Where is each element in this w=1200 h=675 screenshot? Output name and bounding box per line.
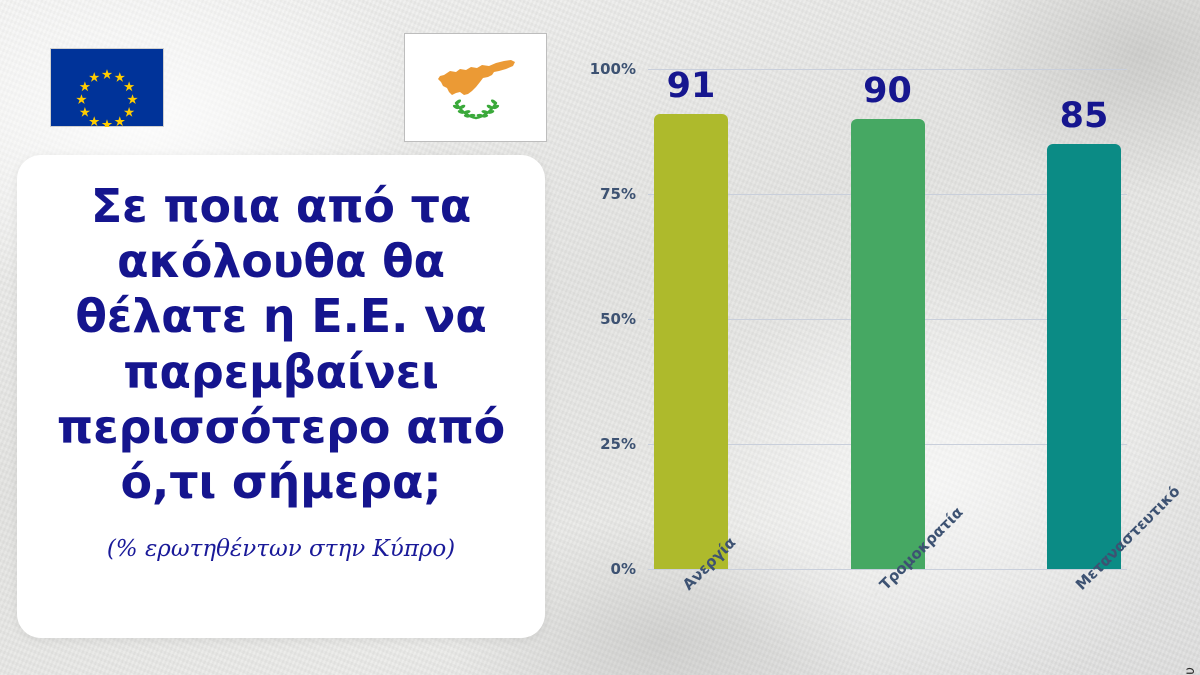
bar[interactable]: [654, 114, 728, 569]
bar-chart: 0%25%50%75%100% 91Ανεργία90Τρομοκρατία85…: [585, 52, 1145, 632]
bar-value-label: 90: [863, 74, 912, 109]
y-axis-tick-label: 75%: [600, 185, 636, 203]
y-axis-tick-label: 0%: [611, 560, 636, 578]
chart-plot-area: 0%25%50%75%100% 91Ανεργία90Τρομοκρατία85…: [648, 69, 1127, 569]
question-card: Σε ποια από τα ακόλουθα θα θέλατε η Ε.Ε.…: [17, 155, 545, 638]
y-axis-tick-label: 100%: [590, 60, 636, 78]
source-note-text: Πηγή: Ευρωπαρόμετρο 87.1 - Παραγωγή Γραφ…: [1182, 667, 1198, 675]
question-subtitle: (% ερωτηθέντων στην Κύπρο): [107, 536, 455, 562]
eu-stars-icon: [51, 49, 163, 127]
source-note: Πηγή: Ευρωπαρόμετρο 87.1 - Παραγωγή Γραφ…: [1182, 667, 1198, 675]
y-axis-tick-label: 50%: [600, 310, 636, 328]
bar-value-label: 85: [1060, 99, 1109, 134]
bar-group: 91Ανεργία: [654, 69, 728, 569]
european-union-flag: [50, 48, 164, 127]
bar-group: 85Μεταναστευτικό: [1047, 69, 1121, 569]
page-title: Σε ποια από τα ακόλουθα θα θέλατε η Ε.Ε.…: [33, 179, 529, 510]
slide-root: Σε ποια από τα ακόλουθα θα θέλατε η Ε.Ε.…: [0, 0, 1200, 675]
cyprus-flag: [404, 33, 547, 142]
cyprus-island-icon: [416, 47, 536, 129]
bar[interactable]: [1047, 144, 1121, 569]
chart-bars: 91Ανεργία90Τρομοκρατία85Μεταναστευτικό: [648, 69, 1127, 569]
bar-group: 90Τρομοκρατία: [851, 69, 925, 569]
y-axis-tick-label: 25%: [600, 435, 636, 453]
bar-value-label: 91: [667, 69, 716, 104]
bar[interactable]: [851, 119, 925, 569]
